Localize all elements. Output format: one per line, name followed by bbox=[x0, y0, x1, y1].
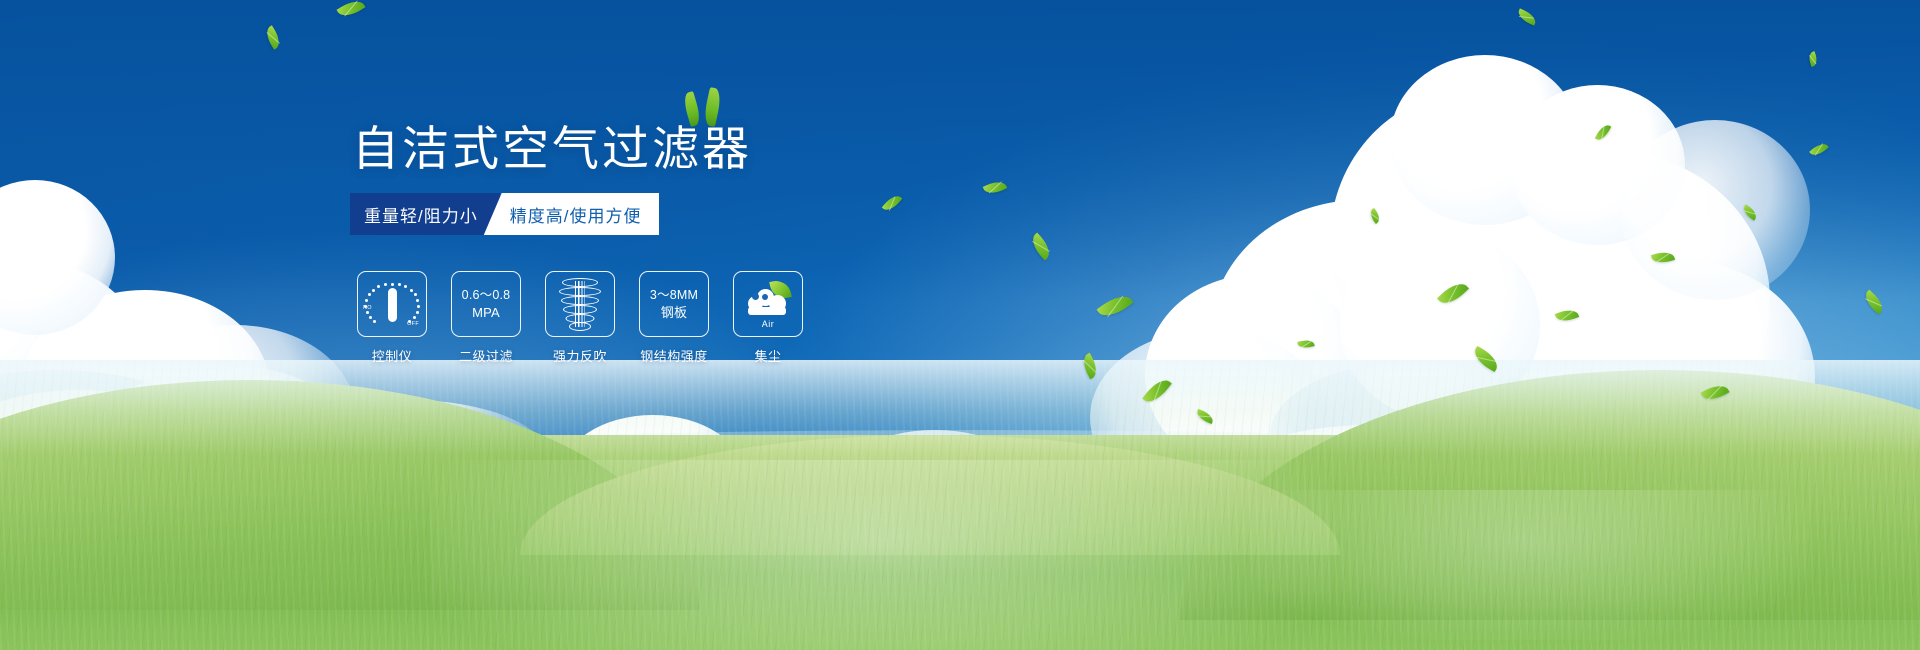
feature-label: 控制仪 bbox=[372, 346, 413, 365]
air-cloud-shape: Air bbox=[744, 282, 792, 326]
gauge-off-label: OFF bbox=[407, 321, 419, 327]
steel-plate-text: 钢板 bbox=[661, 304, 687, 321]
product-hero-banner: 自洁式空气过滤器 重量轻/阻力小 精度高/使用方便 bbox=[0, 0, 1920, 650]
feature-pill-group: 重量轻/阻力小 精度高/使用方便 bbox=[350, 193, 659, 235]
air-cloud-icon: Air bbox=[733, 271, 803, 337]
coil-spring-shape bbox=[558, 278, 602, 330]
steel-thickness-text: 3～8MM bbox=[650, 287, 698, 304]
gauge-needle bbox=[388, 288, 397, 322]
steel-plate-icon: 3～8MM 钢板 bbox=[639, 271, 709, 337]
feature-pill-primary[interactable]: 重量轻/阻力小 bbox=[350, 193, 500, 235]
pressure-icon: 0.6～0.8 MPA bbox=[451, 271, 521, 337]
feature-item-backblow[interactable]: 强力反吹 bbox=[545, 271, 615, 365]
feature-item-dust-collection[interactable]: Air 集尘 bbox=[733, 271, 803, 365]
feature-icon-row: NO OFF 控制仪 0.6～0.8 MPA 二级过滤 bbox=[357, 271, 803, 365]
coil-icon bbox=[545, 271, 615, 337]
feature-label: 集尘 bbox=[754, 346, 781, 365]
feature-item-controller[interactable]: NO OFF 控制仪 bbox=[357, 271, 427, 365]
page-title: 自洁式空气过滤器 bbox=[352, 120, 752, 178]
feature-pill-secondary[interactable]: 精度高/使用方便 bbox=[484, 193, 660, 235]
pressure-range-text: 0.6～0.8 bbox=[462, 287, 511, 304]
feature-label: 钢结构强度 bbox=[640, 346, 708, 365]
feature-item-steel-strength[interactable]: 3～8MM 钢板 钢结构强度 bbox=[639, 271, 709, 365]
gauge-icon: NO OFF bbox=[357, 271, 427, 337]
pressure-unit-text: MPA bbox=[472, 304, 500, 321]
gauge-no-label: NO bbox=[363, 305, 372, 311]
feature-label: 二级过滤 bbox=[459, 346, 513, 365]
air-label: Air bbox=[744, 319, 792, 329]
feature-item-filtration[interactable]: 0.6～0.8 MPA 二级过滤 bbox=[451, 271, 521, 365]
gauge-dial: NO OFF bbox=[364, 279, 420, 329]
feature-label: 强力反吹 bbox=[553, 346, 607, 365]
